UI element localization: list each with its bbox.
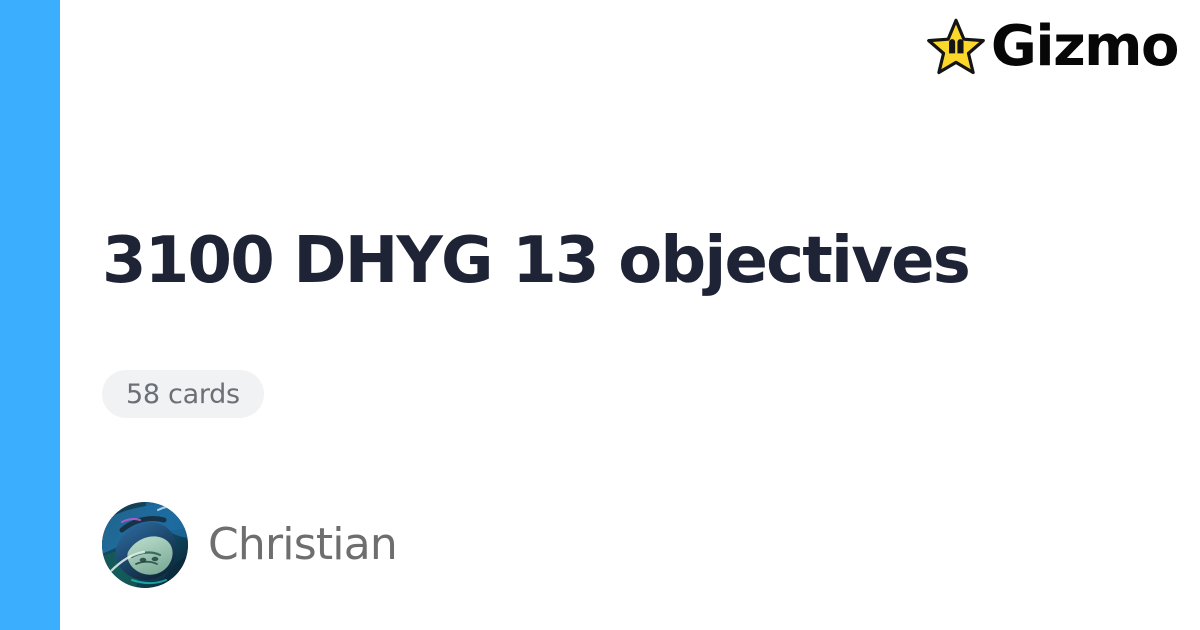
main-content: 3100 DHYG 13 objectives 58 cards [102, 0, 1102, 630]
card-count-label: 58 cards [126, 381, 240, 408]
author-name: Christian [208, 523, 397, 567]
page-title: 3100 DHYG 13 objectives [102, 228, 969, 295]
avatar-image [102, 502, 188, 588]
avatar[interactable] [102, 502, 188, 588]
author-row[interactable]: Christian [102, 502, 397, 588]
left-accent-stripe [0, 0, 60, 630]
card-count-badge: 58 cards [102, 370, 264, 418]
